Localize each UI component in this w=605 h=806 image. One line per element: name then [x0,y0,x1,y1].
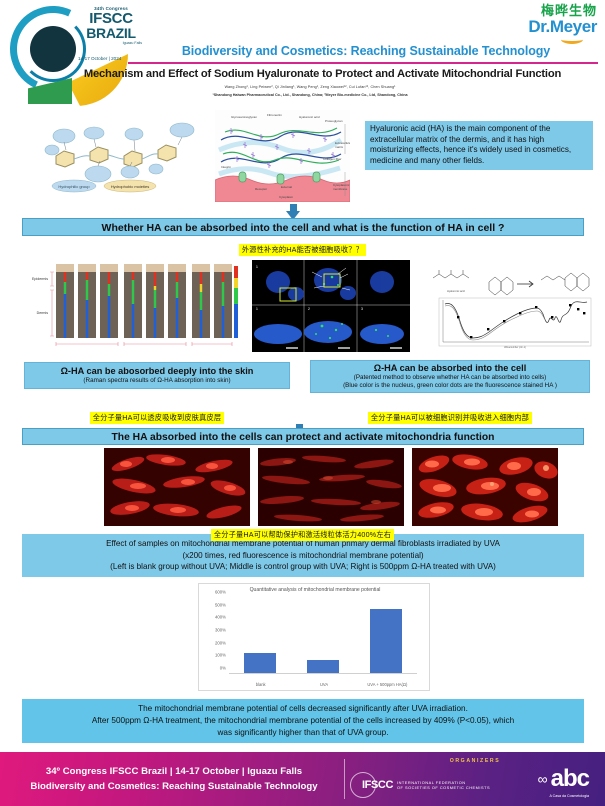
toucan-icon [30,26,76,72]
mito-image-uva [258,448,404,526]
footer-abc-subtitle: A Casa da Cosmetologia [549,794,589,798]
chart-y-tick: 400% [215,615,226,620]
label-cytoplasm: Cytoplasm [279,195,294,199]
finding-skin-subtitle: (Raman spectra results of Ω-HA absorptio… [29,377,285,385]
poster-header: 34th Congress IFSCC BRAZIL Iguazu Falls … [0,0,605,110]
footer-congress-text: 34º Congress IFSCC Brazil | 14-17 Octobe… [14,764,334,795]
fluorescence-microscopy-figure: 123 1 [252,260,410,352]
svg-text:3: 3 [361,307,363,311]
logo-ifscc-word: IFSCC [76,11,146,26]
author-list: Wang Zhong¹, Ling Peiwen², Qi Jinliang¹,… [110,85,510,89]
evidence-figure-row: Epidermis Dermis [0,258,605,358]
finding-cell-subtitle-1: (Patented method to observe whether HA c… [315,374,585,382]
chart-y-tick: 100% [215,653,226,658]
brand-name-cn: 梅晔生物 [528,4,597,18]
label-glycosaminoglycan: Glycosaminoglycan [231,115,257,119]
mitochondria-banner: The HA absorbed into the cells can prote… [22,428,584,445]
label-ecm2: matrix [335,145,344,149]
brand-name-en: Dr.Meyer [528,18,597,36]
legend-hydrophobic: Hydrophobic moieties [111,184,149,189]
question-banner: Whether HA can be absorbed into the cell… [22,218,584,236]
reaction-and-spectra-figure: Hyaluronic acid Wavenumber (cm-1) [425,262,597,350]
finding-skin-highlight-cn: 全分子量HA可以透皮吸收到皮肤真皮层 [90,412,225,424]
label-epidermis: Epidermis [32,277,48,281]
finding-cell-highlight-cn: 全分子量HA可以被细胞识别并吸收进入细胞内部 [368,412,532,424]
svg-text:2: 2 [308,307,310,311]
svg-text:Hyaluronic acid: Hyaluronic acid [447,289,465,293]
mitochondria-highlight-cn: 全分子量HA可以帮助保护和激活线粒体活力400%左右 [211,529,394,541]
chart-plot-area: 0%100%200%300%400%500%600% [229,597,417,674]
chart-y-tick: 300% [215,628,226,633]
raman-depth-profile-figure: Epidermis Dermis [28,260,240,352]
ifscc-congress-logo: 34th Congress IFSCC BRAZIL Iguazu Falls … [8,2,138,107]
finding-skin-box: Ω-HA can be abosorbed deeply into the sk… [24,362,290,389]
footer-organizers-label: ORGANIZERS [355,758,595,764]
conclusion-line-1: The mitochondrial membrane potential of … [28,703,578,715]
logo-location: Iguazu Falls [76,41,146,45]
logo-text-block: 34th Congress IFSCC BRAZIL Iguazu Falls … [76,6,146,61]
caption-line-3: (Left is blank group without UVA; Middle… [28,561,578,573]
finding-skin-title: Ω-HA can be abosorbed deeply into the sk… [29,366,285,377]
label-proteoglycan: Proteoglycan [325,119,343,123]
label-integrin: Integrin [221,165,231,169]
chart-bar-column [370,597,402,673]
mitochondria-highlight-wrap: 全分子量HA可以帮助保护和激活线粒体活力400%左右 [0,524,605,542]
finding-cell-highlight-wrap: 全分子量HA可以被细胞识别并吸收进入细胞内部 [310,407,590,425]
question-highlight-cn-wrap: 外源性补充的HA能否被细胞吸收？？ [0,239,605,257]
question-highlight-cn: 外源性补充的HA能否被细胞吸收？？ [239,244,366,256]
conclusion-box: The mitochondrial membrane potential of … [22,699,584,743]
findings-row: Ω-HA can be abosorbed deeply into the sk… [0,360,605,422]
conclusion-line-3: was significantly higher than that of UV… [28,727,578,739]
intro-section: Hydrophilic group Hydrophobic moieties G… [0,108,605,213]
svg-text:1: 1 [256,265,258,269]
chart-y-tick: 0% [220,666,226,671]
label-dermis: Dermis [37,311,49,315]
page-title: Mechanism and Effect of Sodium Hyalurona… [50,68,595,80]
mito-image-blank [104,448,250,526]
caption-line-2: (x200 times, red fluorescence is mitocho… [28,550,578,562]
ha-description-box: Hyaluronic acid (HA) is the main compone… [365,121,593,170]
legend-hydrophilic: Hydrophilic group [58,184,90,189]
poster-footer: 34º Congress IFSCC Brazil | 14-17 Octobe… [0,752,605,806]
chart-x-tick: blank [256,682,266,687]
chart-bar [370,609,402,673]
footer-line-2: Biodiversity and Cosmetics: Reaching Sus… [14,779,334,794]
chart-y-tick: 600% [215,590,226,595]
label-receptor: Receptor [255,187,267,191]
chart-bar [244,653,276,673]
label-hyaluronic-acid: Hyaluronic acid [299,115,320,119]
label-fibronectin: Fibronectin [267,113,282,117]
footer-divider [344,759,345,799]
footer-ifscc-logo: IFSCC INTERNATIONAL FEDERATION OF SOCIET… [350,772,490,798]
svg-text:Wavenumber (cm-1): Wavenumber (cm-1) [504,346,526,349]
chart-x-tick: UVA [320,682,328,687]
chart-bar [307,660,339,673]
chart-bar-column [244,597,276,673]
svg-text:1: 1 [256,307,258,311]
footer-abc-logo: ∞ abc [538,768,589,790]
footer-line-1: 34º Congress IFSCC Brazil | 14-17 Octobe… [14,764,334,779]
chart-bar-column [307,597,339,673]
congress-theme: Biodiversity and Cosmetics: Reaching Sus… [140,44,592,58]
affiliation-list: ¹Shandong Haiwan Pharmaceutical Co., Ltd… [90,93,530,97]
chart-title: Quantitative analysis of mitochondrial m… [199,587,431,593]
footer-ifscc-subtitle: INTERNATIONAL FEDERATION OF SOCIETIES OF… [397,780,490,791]
dr-meyer-logo: 梅晔生物 Dr.Meyer [528,4,597,44]
label-external: External [281,185,292,189]
abc-knot-icon: ∞ [538,773,548,786]
chart-bars [229,597,417,673]
logo-date: 14-17 October | 2024 [76,56,146,61]
footer-ifscc-mark: IFSCC [362,779,393,791]
mitochondria-image-row [0,448,605,530]
brand-swoosh-icon [561,35,583,44]
finding-cell-box: Ω-HA can be absorbed into the cell (Pate… [310,360,590,393]
chart-x-tick: UVA + 500ppm HA(Ω) [367,682,407,687]
footer-ifscc-sub-2: OF SOCIETIES OF COSMETIC CHEMISTS [397,785,490,790]
mito-image-ha-treated [412,448,558,526]
label-membrane2: membrane [333,187,348,191]
chart-y-tick: 200% [215,640,226,645]
ha-molecular-structure-figure: Hydrophilic group Hydrophobic moieties [38,116,208,194]
logo-brazil-word: BRAZIL [76,26,146,40]
conclusion-line-2: After 500ppm Ω-HA treatment, the mitocho… [28,715,578,727]
finding-cell-title: Ω-HA can be absorbed into the cell [315,363,585,374]
finding-cell-subtitle-2: (Blue color is the nucleus, green color … [315,382,585,390]
label-collagen-fiber: Collagen fiber [323,157,342,161]
theme-divider [128,62,598,64]
chart-y-tick: 500% [215,602,226,607]
footer-abc-mark: abc [551,768,589,790]
extracellular-matrix-figure: Glycosaminoglycan Fibronectin Hyaluronic… [215,110,350,202]
mitochondria-bar-chart: Quantitative analysis of mitochondrial m… [198,583,430,691]
finding-skin-highlight-wrap: 全分子量HA可以透皮吸收到皮肤真皮层 [24,407,290,425]
